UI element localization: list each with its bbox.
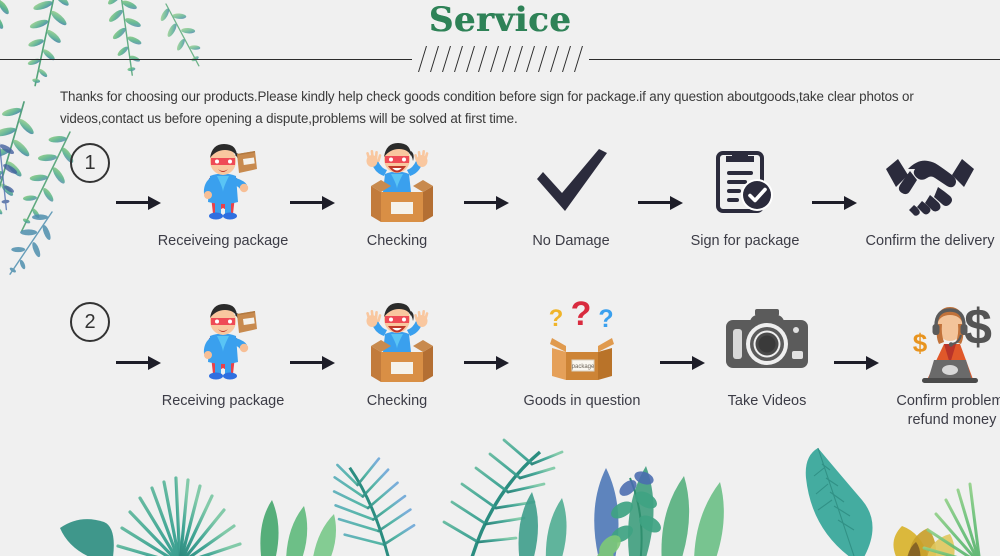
flow-row-1: 1 [0, 140, 1000, 285]
step-no-damage: No Damage [512, 140, 630, 251]
svg-text:?: ? [598, 305, 613, 333]
arrow-icon [282, 162, 338, 242]
step-label: Receiving package [162, 392, 285, 411]
handshake-icon [880, 140, 980, 224]
arrow-icon [630, 162, 686, 242]
step-confirm-problem-refund-money: $ $ [882, 300, 1000, 430]
superhero-holding-package-icon [187, 140, 259, 224]
step-label: Checking [367, 232, 427, 251]
divider-slash [430, 46, 439, 72]
step-label: No Damage [532, 232, 609, 251]
step-goods-in-question: ? ? ? package Goods in quest [512, 300, 652, 411]
divider-slash [454, 46, 463, 72]
row-number-1: 1 [70, 143, 110, 183]
divider-slash [478, 46, 487, 72]
row-2-steps: Receiving package [108, 300, 1000, 430]
row-1-steps: Receiveing package [108, 140, 1000, 251]
svg-text:?: ? [571, 300, 592, 333]
step-confirm-the-delivery: Confirm the delivery [860, 140, 1000, 251]
clipboard-check-icon [714, 140, 776, 224]
intro-paragraph: Thanks for choosing our products.Please … [60, 86, 950, 130]
divider-slash [442, 46, 451, 72]
divider-rule-right [589, 59, 1000, 60]
step-label: Take Videos [728, 392, 807, 411]
step-label: Sign for package [691, 232, 800, 251]
step-receiveing-package: Receiveing package [164, 140, 282, 251]
arrow-icon [108, 322, 164, 402]
step-label: Receiveing package [158, 232, 289, 251]
camera-icon [724, 300, 810, 384]
arrow-icon [456, 322, 512, 402]
question-marks-box-icon: ? ? ? package [536, 300, 628, 384]
checkmark-icon [533, 140, 609, 224]
divider-slash [418, 46, 427, 72]
step-checking: Checking [338, 300, 456, 411]
arrow-icon [282, 322, 338, 402]
step-label: Checking [367, 392, 427, 411]
row-number-2: 2 [70, 302, 110, 342]
svg-text:$: $ [913, 328, 928, 358]
service-banner: Service Thanks for choosing our products… [0, 0, 1000, 556]
divider-slash [502, 46, 511, 72]
divider-slash [562, 46, 571, 72]
arrow-icon [826, 322, 882, 402]
arrow-icon [652, 322, 708, 402]
support-agent-dollar-icon: $ $ [904, 300, 1000, 384]
person-in-open-box-icon [357, 300, 437, 384]
flow-row-2: 2 [0, 300, 1000, 465]
superhero-holding-package-icon [187, 300, 259, 384]
step-checking: Checking [338, 140, 456, 251]
divider-slashes [412, 46, 589, 72]
step-take-videos: Take Videos [708, 300, 826, 411]
divider-slash [514, 46, 523, 72]
svg-text:?: ? [549, 305, 564, 332]
divider-slash [550, 46, 559, 72]
divider-slash [490, 46, 499, 72]
divider-slash [574, 46, 583, 72]
step-sign-for-package: Sign for package [686, 140, 804, 251]
svg-text:$: $ [964, 300, 992, 355]
step-label: Goods in question [524, 392, 641, 411]
arrow-icon [108, 162, 164, 242]
divider-slash [538, 46, 547, 72]
page-title: Service [0, 0, 1000, 40]
arrow-icon [804, 162, 860, 242]
step-receiving-package: Receiving package [164, 300, 282, 411]
arrow-icon [456, 162, 512, 242]
divider-rule-left [0, 59, 412, 60]
person-in-open-box-icon [357, 140, 437, 224]
divider-slash [466, 46, 475, 72]
divider-slash [526, 46, 535, 72]
step-label: Confirm problem, refund money [886, 392, 1000, 430]
step-label: Confirm the delivery [866, 232, 995, 251]
slash-divider [0, 46, 1000, 72]
svg-text:package: package [572, 364, 595, 370]
